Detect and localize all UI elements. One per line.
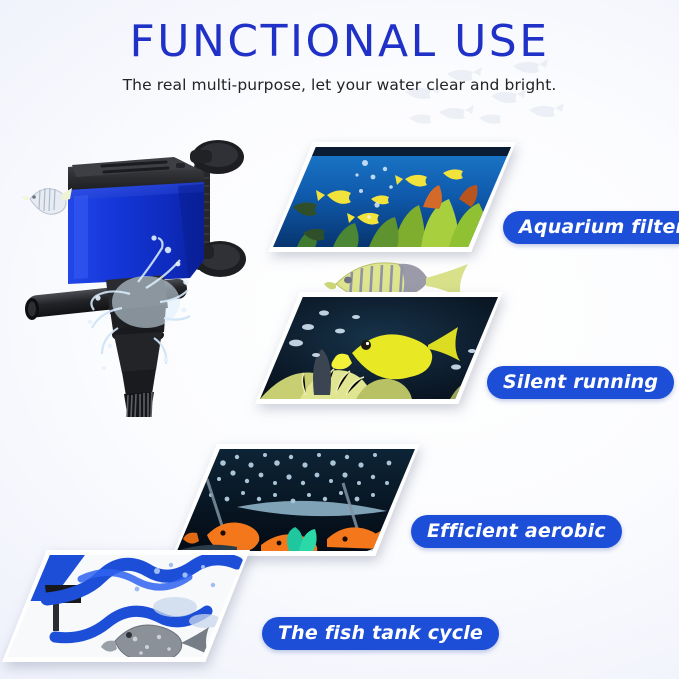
badge-label: The fish tank cycle — [278, 622, 483, 644]
product-image — [18, 132, 268, 417]
page-subtitle: The real multi-purpose, let your water c… — [0, 76, 679, 94]
badge-aquarium-filter[interactable]: Aquarium filter — [503, 211, 679, 244]
badge-label: Silent running — [503, 371, 658, 393]
promo-banner: FUNCTIONAL USE The real multi-purpose, l… — [0, 0, 679, 679]
badge-silent-running[interactable]: Silent running — [487, 366, 674, 399]
feature-photo-fish-tank-cycle — [2, 550, 250, 662]
feature-photo-silent-running — [255, 292, 503, 404]
badge-label: Aquarium filter — [519, 216, 679, 238]
feature-photo-efficient-aerobic — [172, 444, 420, 556]
feature-photo-aquarium-filter — [268, 142, 516, 252]
badge-fish-tank-cycle[interactable]: The fish tank cycle — [262, 617, 499, 650]
badge-efficient-aerobic[interactable]: Efficient aerobic — [411, 515, 622, 548]
page-title: FUNCTIONAL USE — [0, 16, 679, 67]
badge-label: Efficient aerobic — [427, 520, 606, 542]
